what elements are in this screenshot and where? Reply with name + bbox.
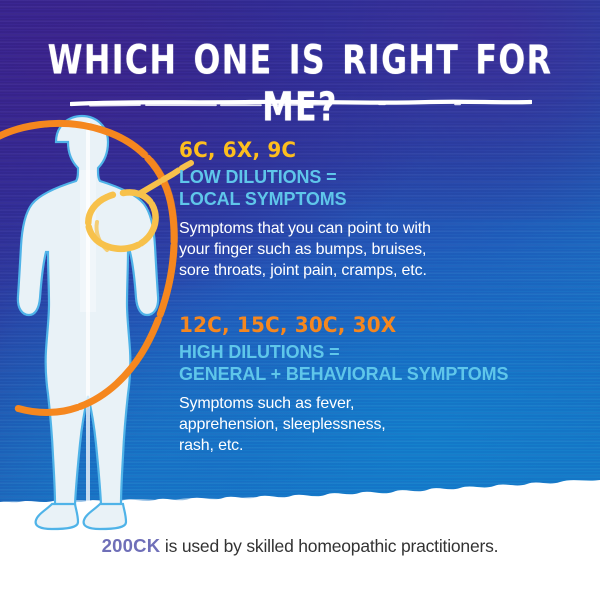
footer-note: 200CK is used by skilled homeopathic pra… <box>0 535 600 557</box>
footer-highlight: 200CK <box>102 535 161 556</box>
footer-text: is used by skilled homeopathic practitio… <box>160 536 498 556</box>
gold-highlight-circle-pointer <box>55 160 195 270</box>
block-body-low: Symptoms that you can point to with your… <box>179 219 431 281</box>
orange-hand-drawn-circle <box>0 108 200 438</box>
block-kicker-low: 6C, 6X, 9C <box>179 139 418 161</box>
body-line: sore throats, joint pain, cramps, etc. <box>179 261 431 282</box>
subhead-line: LOW DILUTIONS = <box>179 166 423 188</box>
block-kicker-high: 12C, 15C, 30C, 30X <box>179 314 502 336</box>
body-line: apprehension, sleeplessness, <box>179 415 519 436</box>
block-subhead-high: HIGH DILUTIONS = GENERAL + BEHAVIORAL SY… <box>179 341 508 385</box>
body-line: Symptoms that you can point to with <box>179 219 431 240</box>
block-body-high: Symptoms such as fever, apprehension, sl… <box>179 394 519 456</box>
dilution-block-high: 12C, 15C, 30C, 30X HIGH DILUTIONS = GENE… <box>179 314 519 457</box>
body-line: your finger such as bumps, bruises, <box>179 240 431 261</box>
body-line: Symptoms such as fever, <box>179 394 519 415</box>
subhead-line: LOCAL SYMPTOMS <box>179 188 423 210</box>
page-title: WHICH ONE IS RIGHT FOR ME? <box>21 37 579 131</box>
block-subhead-low: LOW DILUTIONS = LOCAL SYMPTOMS <box>179 166 423 210</box>
body-line: rash, etc. <box>179 436 519 457</box>
subhead-line: HIGH DILUTIONS = <box>179 341 508 363</box>
infographic-poster: WHICH ONE IS RIGHT FOR ME? 6C, 6X, 9C LO… <box>0 0 600 600</box>
subhead-line: GENERAL + BEHAVIORAL SYMPTOMS <box>179 363 508 385</box>
title-brush-underline <box>70 99 532 108</box>
dilution-block-low: 6C, 6X, 9C LOW DILUTIONS = LOCAL SYMPTOM… <box>179 139 431 282</box>
